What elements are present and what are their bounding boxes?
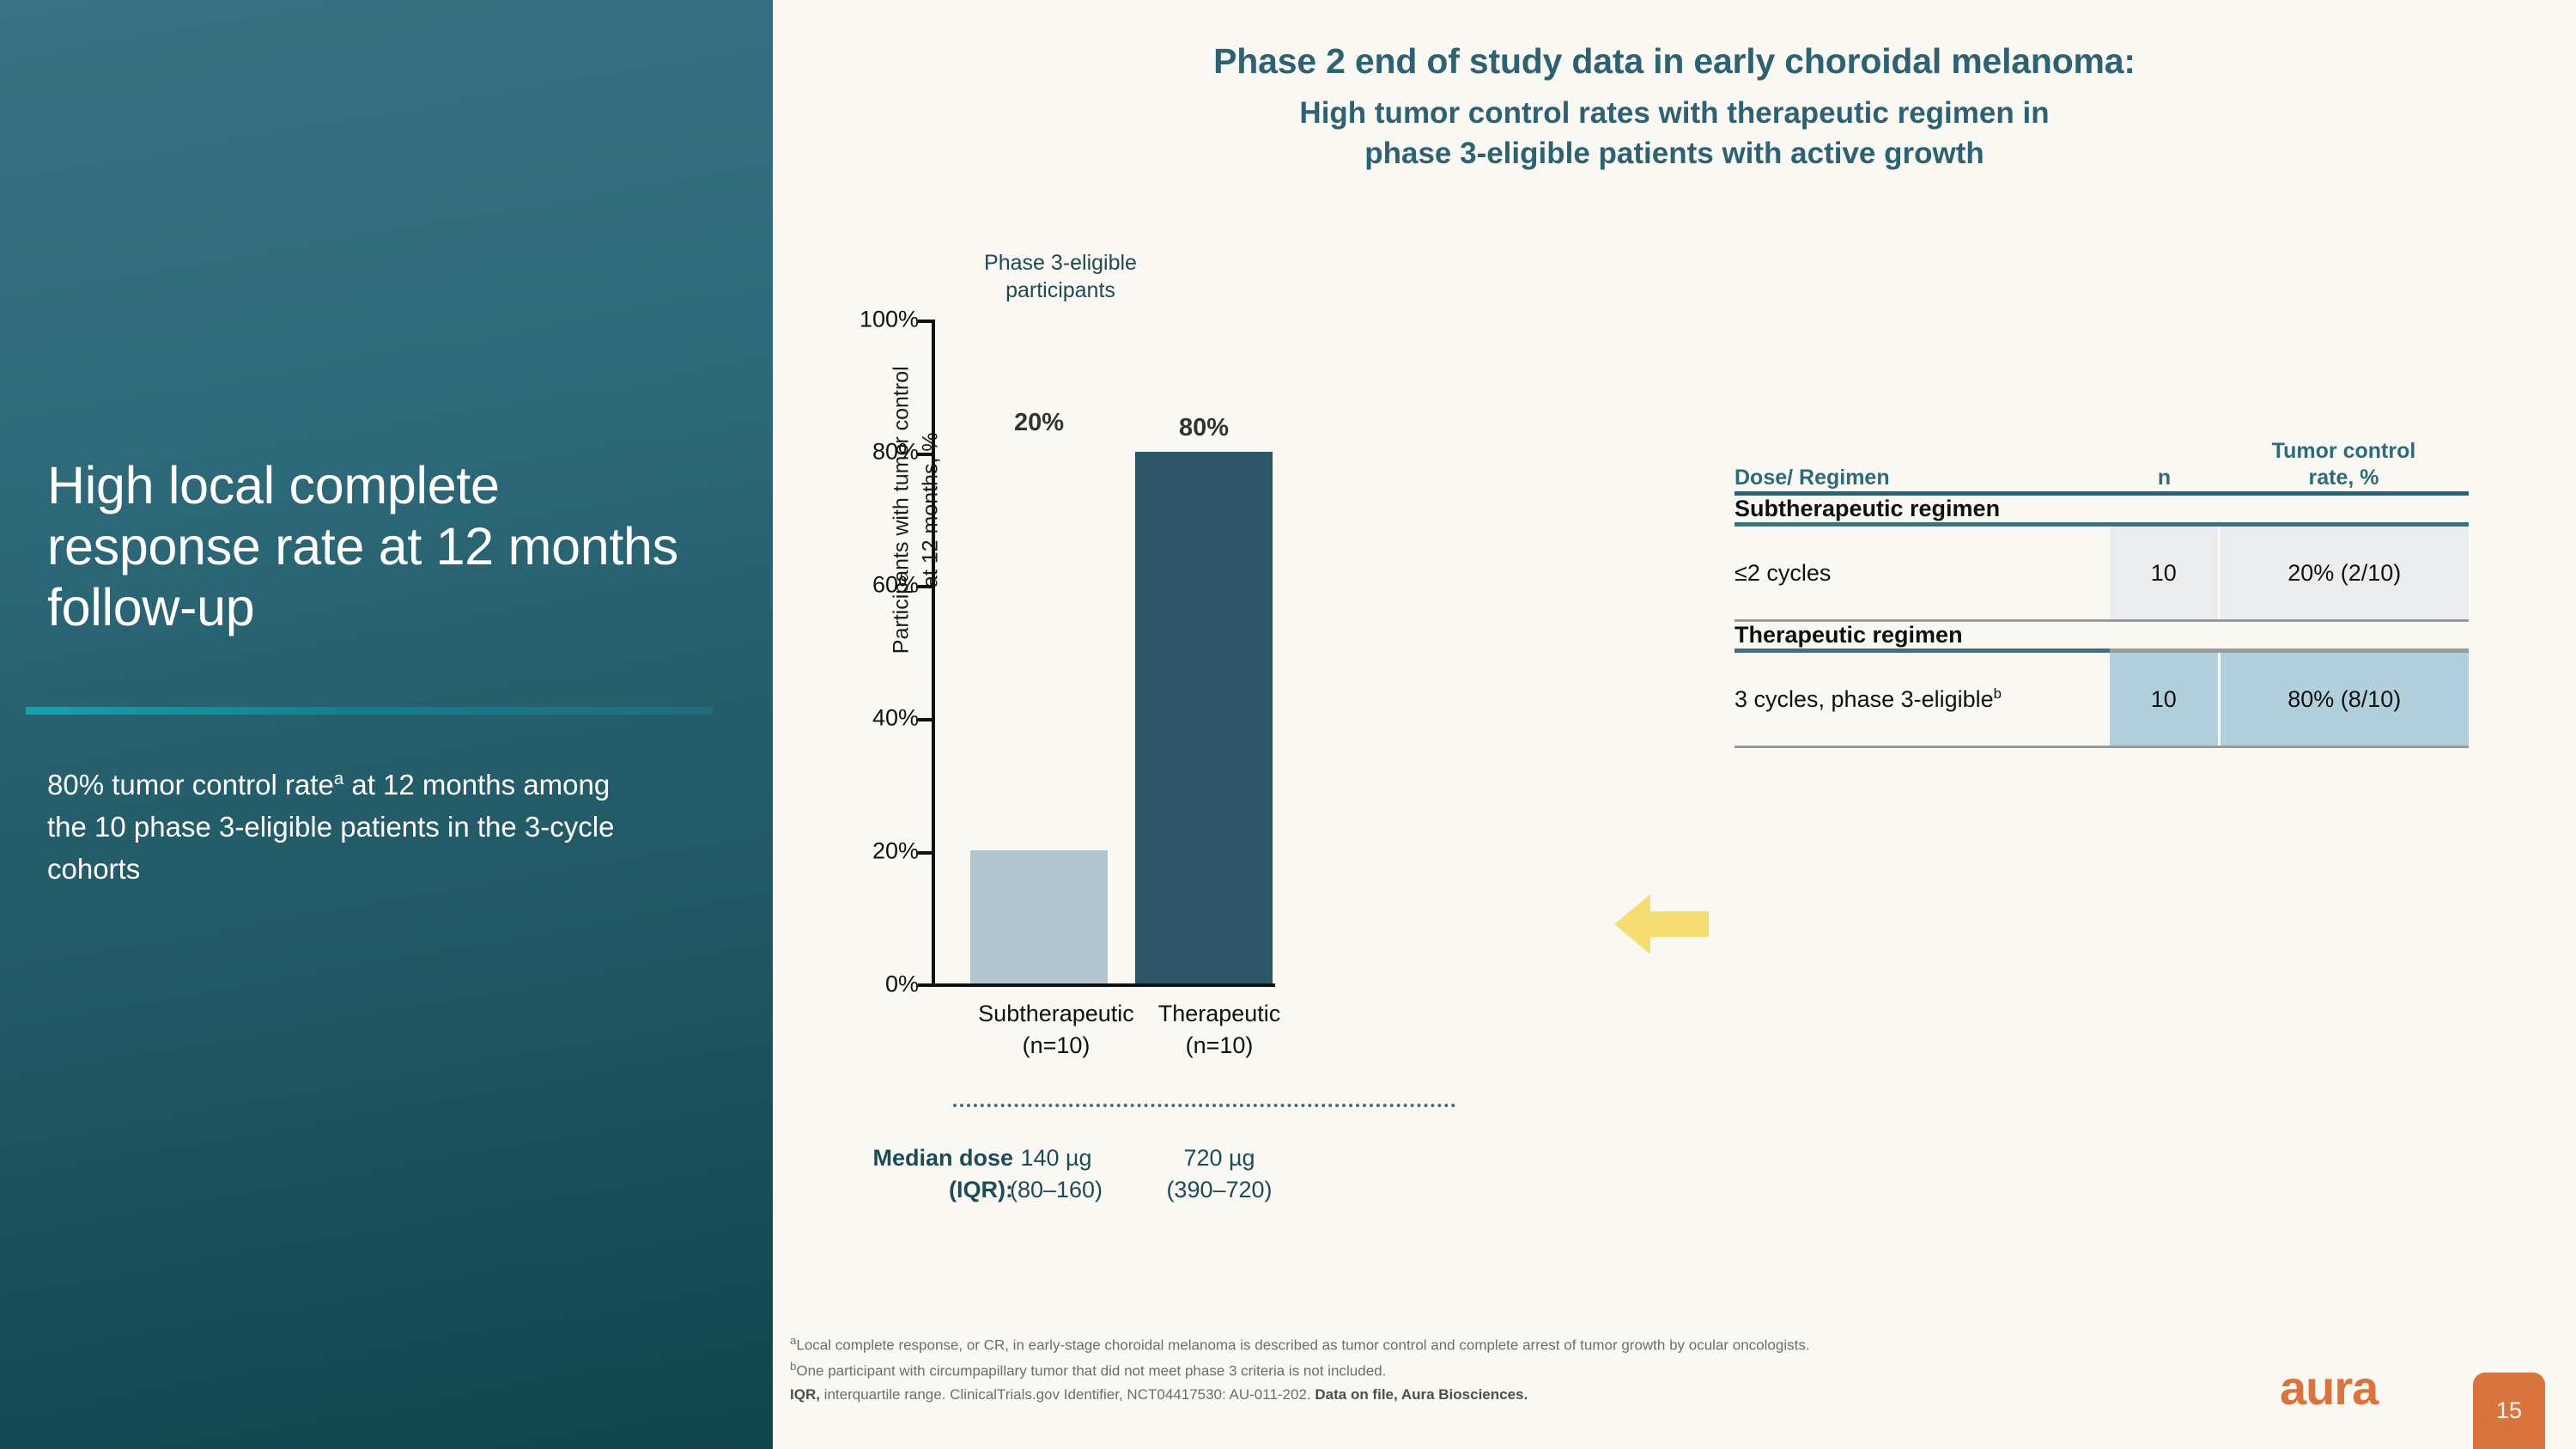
footnote-abbrev: IQR, interquartile range. ClinicalTrials… bbox=[790, 1383, 2250, 1407]
left-title-panel: High local complete response rate at 12 … bbox=[0, 0, 773, 1449]
footnote-abbrev-label: IQR, bbox=[790, 1386, 820, 1403]
footnote-a-text: Local complete response, or CR, in early… bbox=[796, 1337, 1809, 1354]
table-row-bottom-rule-1 bbox=[1735, 746, 2469, 748]
y-axis-tick-labels: 100% 80% 60% 40% 20% 0% bbox=[824, 283, 919, 988]
median-dose-iqr-1: (390–720) bbox=[1121, 1174, 1318, 1206]
cell-n-0: 10 bbox=[2110, 527, 2219, 619]
y-tick-80: 80% bbox=[833, 439, 919, 466]
cell-rate-0: 20% (2/10) bbox=[2219, 527, 2469, 619]
footnote-marker-a: a bbox=[334, 769, 343, 788]
headline-line-2: High tumor control rates with therapeuti… bbox=[773, 94, 2576, 133]
accent-divider bbox=[26, 707, 713, 715]
page-number-badge: 15 bbox=[2473, 1373, 2545, 1449]
headline-line-3: phase 3-eligible patients with active gr… bbox=[773, 134, 2576, 174]
chart-annotation-phase3-eligible: Phase 3-eligible participants bbox=[957, 249, 1163, 304]
table-row[interactable]: ≤2 cycles 10 20% (2/10) bbox=[1735, 527, 2469, 619]
callout-arrow-left-icon bbox=[1614, 889, 1709, 959]
column-header-rate-line-1: Tumor control bbox=[2219, 438, 2469, 465]
x-category-therapeutic: Therapeutic (n=10) bbox=[1121, 998, 1318, 1061]
footnote-a: aLocal complete response, or CR, in earl… bbox=[790, 1331, 2250, 1357]
tick-20 bbox=[918, 851, 932, 855]
column-header-regimen: Dose/ Regimen bbox=[1735, 438, 2110, 491]
x-category-label-1: Therapeutic bbox=[1121, 998, 1318, 1030]
page-title: High local complete response rate at 12 … bbox=[47, 455, 726, 637]
cell-n-1: 10 bbox=[2110, 653, 2219, 746]
bar-therapeutic bbox=[1135, 452, 1273, 983]
tick-40 bbox=[918, 718, 932, 721]
tick-60 bbox=[918, 585, 932, 588]
cell-regimen-1-text: 3 cycles, phase 3-eligible bbox=[1735, 686, 1994, 712]
cell-rate-1: 80% (8/10) bbox=[2219, 653, 2469, 746]
y-tick-100: 100% bbox=[833, 307, 919, 333]
bar-chart: Participants with tumor control at 12 mo… bbox=[773, 283, 1717, 1228]
footnote-b-text: One participant with circumpapillary tum… bbox=[796, 1363, 1386, 1379]
tumor-control-table: Dose/ Regimen n Tumor control rate, % Su… bbox=[1735, 438, 2469, 748]
dotted-divider bbox=[953, 1104, 1455, 1107]
column-header-rate: Tumor control rate, % bbox=[2219, 438, 2469, 491]
x-category-sublabel-1: (n=10) bbox=[1121, 1030, 1318, 1062]
table-row[interactable]: 3 cycles, phase 3-eligibleb 10 80% (8/10… bbox=[1735, 653, 2469, 746]
aura-logo: aura bbox=[2280, 1364, 2378, 1412]
y-tick-60: 60% bbox=[833, 572, 919, 599]
table-group-subtherapeutic: Subtherapeutic regimen bbox=[1735, 496, 2469, 522]
footnote-b: bOne participant with circumpapillary tu… bbox=[790, 1357, 2250, 1383]
footnote-marker-b: b bbox=[1994, 685, 2002, 702]
bar-value-therapeutic: 80% bbox=[1135, 414, 1273, 442]
footnote-abbrev-text: interquartile range. ClinicalTrials.gov … bbox=[820, 1386, 1315, 1403]
tick-0 bbox=[918, 983, 932, 987]
bar-value-subtherapeutic: 20% bbox=[970, 409, 1108, 437]
column-header-rate-line-2: rate, % bbox=[2219, 465, 2469, 491]
plot-area: 20% 80% bbox=[932, 320, 1275, 983]
subtitle-prefix: 80% tumor control rate bbox=[47, 769, 334, 801]
y-axis-line bbox=[932, 320, 935, 985]
footnotes: aLocal complete response, or CR, in earl… bbox=[790, 1331, 2250, 1407]
aura-logo-text: aura bbox=[2280, 1364, 2378, 1412]
median-dose-value-1: 720 µg bbox=[1121, 1142, 1318, 1174]
tick-80 bbox=[918, 453, 932, 456]
y-tick-20: 20% bbox=[833, 838, 919, 865]
cell-regimen-0: ≤2 cycles bbox=[1735, 527, 2110, 619]
y-tick-0: 0% bbox=[833, 971, 919, 998]
page-subtitle: 80% tumor control ratea at 12 months amo… bbox=[47, 764, 648, 890]
y-tick-40: 40% bbox=[833, 705, 919, 732]
median-dose-therapeutic: 720 µg (390–720) bbox=[1121, 1142, 1318, 1207]
cell-regimen-1: 3 cycles, phase 3-eligibleb bbox=[1735, 653, 2110, 746]
table-group-label-1: Therapeutic regimen bbox=[1735, 622, 2469, 648]
bar-subtherapeutic bbox=[970, 850, 1108, 983]
column-header-n: n bbox=[2110, 438, 2219, 491]
slide-headline: Phase 2 end of study data in early choro… bbox=[773, 39, 2576, 174]
table-group-label-0: Subtherapeutic regimen bbox=[1735, 496, 2469, 522]
table-header-row: Dose/ Regimen n Tumor control rate, % bbox=[1735, 438, 2469, 491]
footnote-source: Data on file, Aura Biosciences. bbox=[1315, 1386, 1528, 1403]
tick-100 bbox=[918, 320, 932, 323]
x-axis-line bbox=[932, 983, 1275, 987]
headline-line-1: Phase 2 end of study data in early choro… bbox=[773, 39, 2576, 83]
table-group-therapeutic: Therapeutic regimen bbox=[1735, 622, 2469, 648]
